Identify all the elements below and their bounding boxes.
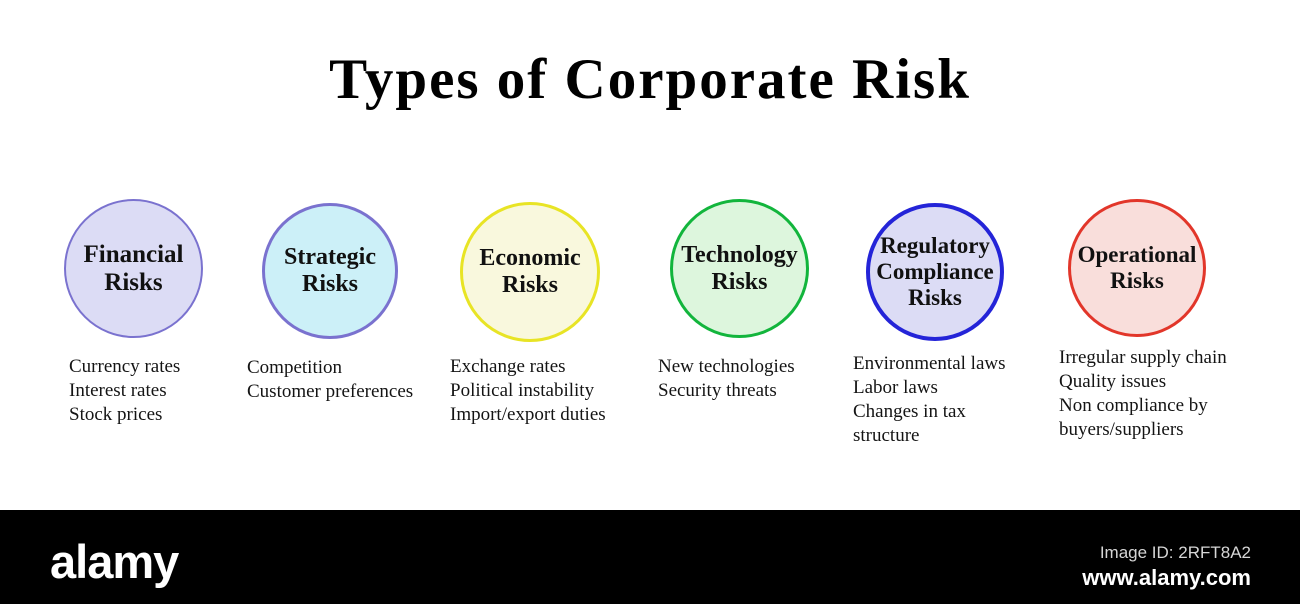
risk-item: Interest rates [69,379,249,403]
risk-circle-label-regulatory: Regulatory Compliance Risks [870,233,1000,310]
risk-item: Import/export duties [450,403,650,427]
risk-item: Competition [247,356,467,380]
risk-items-financial: Currency ratesInterest ratesStock prices [69,355,249,427]
risk-circle-operational[interactable]: Operational Risks [1068,199,1206,337]
risk-circle-technology[interactable]: Technology Risks [670,199,809,338]
alamy-url-label: www.alamy.com [1082,566,1251,590]
image-id-label: Image ID: 2RFT8A2 [1100,543,1251,562]
risk-circle-label-technology: Technology Risks [675,242,803,296]
risk-items-operational: Irregular supply chainQuality issuesNon … [1059,346,1289,442]
risk-item: Stock prices [69,403,249,427]
risk-items-strategic: CompetitionCustomer preferences [247,356,467,404]
risk-item: Labor laws [853,376,1053,400]
risk-item: New technologies [658,355,858,379]
risk-circle-label-operational: Operational Risks [1072,242,1203,294]
risk-item: Non compliance by buyers/suppliers [1059,394,1289,442]
risk-diagram: Financial RisksCurrency ratesInterest ra… [0,0,1300,510]
risk-circle-economic[interactable]: Economic Risks [460,202,600,342]
risk-items-technology: New technologiesSecurity threats [658,355,858,403]
watermark-bar: alamy Image ID: 2RFT8A2 www.alamy.com [0,510,1300,604]
risk-item: Changes in tax structure [853,400,1053,448]
risk-circle-regulatory[interactable]: Regulatory Compliance Risks [866,203,1004,341]
diagram-canvas: Types of Corporate Risk Financial RisksC… [0,0,1300,604]
risk-items-regulatory: Environmental lawsLabor lawsChanges in t… [853,352,1053,448]
risk-item: Quality issues [1059,370,1289,394]
risk-circle-financial[interactable]: Financial Risks [64,199,203,338]
risk-item: Security threats [658,379,858,403]
risk-circle-strategic[interactable]: Strategic Risks [262,203,398,339]
risk-item: Environmental laws [853,352,1053,376]
risk-circle-label-strategic: Strategic Risks [278,244,382,298]
risk-circle-label-financial: Financial Risks [77,241,189,297]
risk-item: Political instability [450,379,650,403]
risk-item: Irregular supply chain [1059,346,1289,370]
alamy-logo: alamy [50,538,178,585]
risk-item: Exchange rates [450,355,650,379]
risk-item: Customer preferences [247,380,467,404]
risk-item: Currency rates [69,355,249,379]
risk-items-economic: Exchange ratesPolitical instabilityImpor… [450,355,650,427]
risk-circle-label-economic: Economic Risks [473,245,586,299]
